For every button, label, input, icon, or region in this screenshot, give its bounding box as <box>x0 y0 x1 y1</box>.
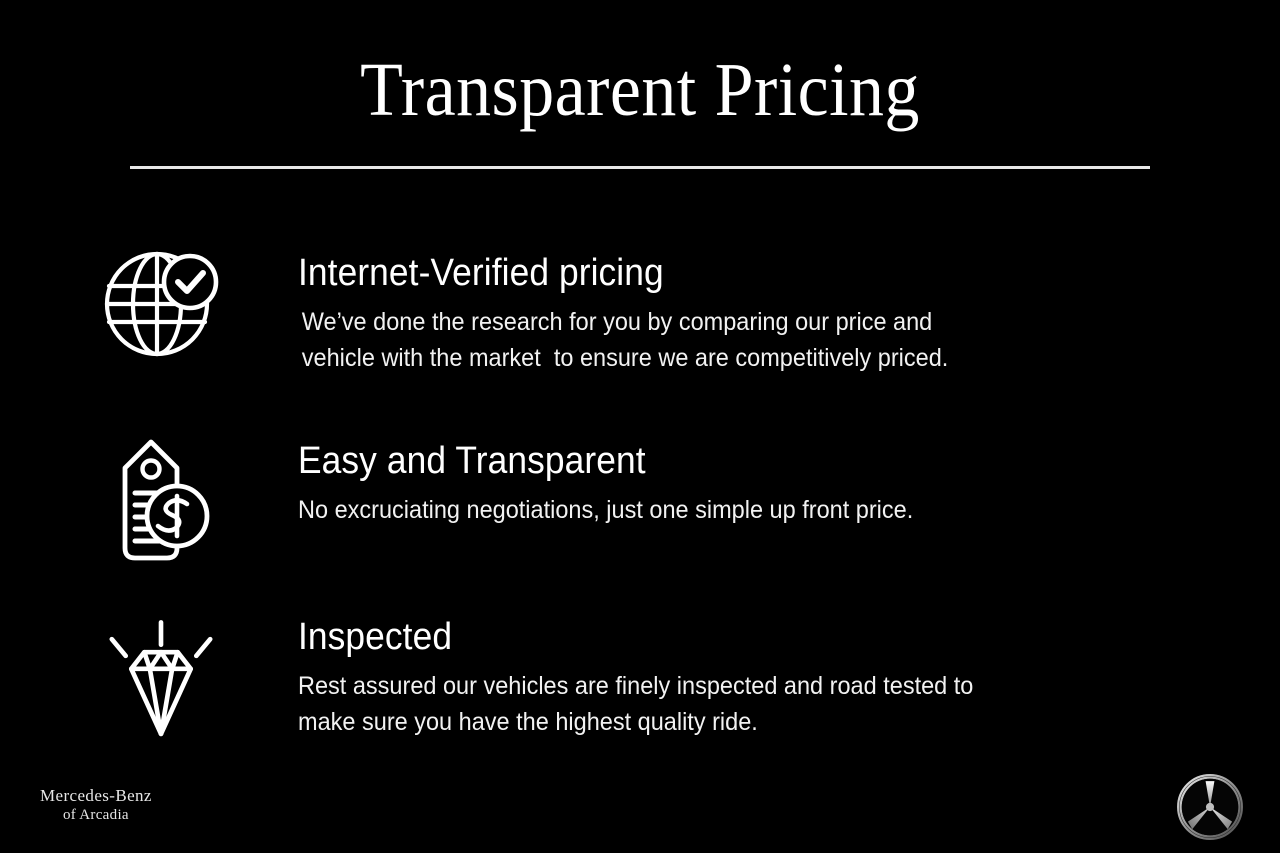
feature-heading: Inspected <box>298 614 1280 660</box>
title-divider <box>130 166 1150 169</box>
feature-item-inspected: Inspected Rest assured our vehicles are … <box>0 612 1280 742</box>
globe-check-icon <box>96 248 226 378</box>
feature-text-block: Internet-Verified pricing We’ve done the… <box>226 248 1280 376</box>
diamond-sparkle-icon <box>96 612 226 742</box>
feature-text-block: Easy and Transparent No excruciating neg… <box>226 436 1280 528</box>
mercedes-benz-star-icon <box>1176 773 1244 841</box>
feature-body: We’ve done the research for you by compa… <box>298 304 1044 376</box>
feature-item-internet-verified-pricing: Internet-Verified pricing We’ve done the… <box>0 248 1280 378</box>
dealer-wordmark: Mercedes-Benz of Arcadia <box>40 785 152 825</box>
feature-item-easy-and-transparent: Easy and Transparent No excruciating neg… <box>0 436 1280 566</box>
feature-heading: Easy and Transparent <box>298 438 1280 484</box>
feature-body: Rest assured our vehicles are finely ins… <box>298 668 1041 740</box>
feature-body: No excruciating negotiations, just one s… <box>298 492 1041 528</box>
title-block: Transparent Pricing <box>0 44 1280 136</box>
slide-root: Transparent Pricing Internet-Verified pr… <box>0 0 1280 853</box>
feature-text-block: Inspected Rest assured our vehicles are … <box>226 612 1280 740</box>
page-title: Transparent Pricing <box>51 44 1229 136</box>
dealer-name: Mercedes-Benz <box>40 785 152 806</box>
dealer-location: of Arcadia <box>40 806 152 825</box>
price-tag-dollar-icon <box>96 436 226 566</box>
feature-heading: Internet-Verified pricing <box>298 250 1280 296</box>
